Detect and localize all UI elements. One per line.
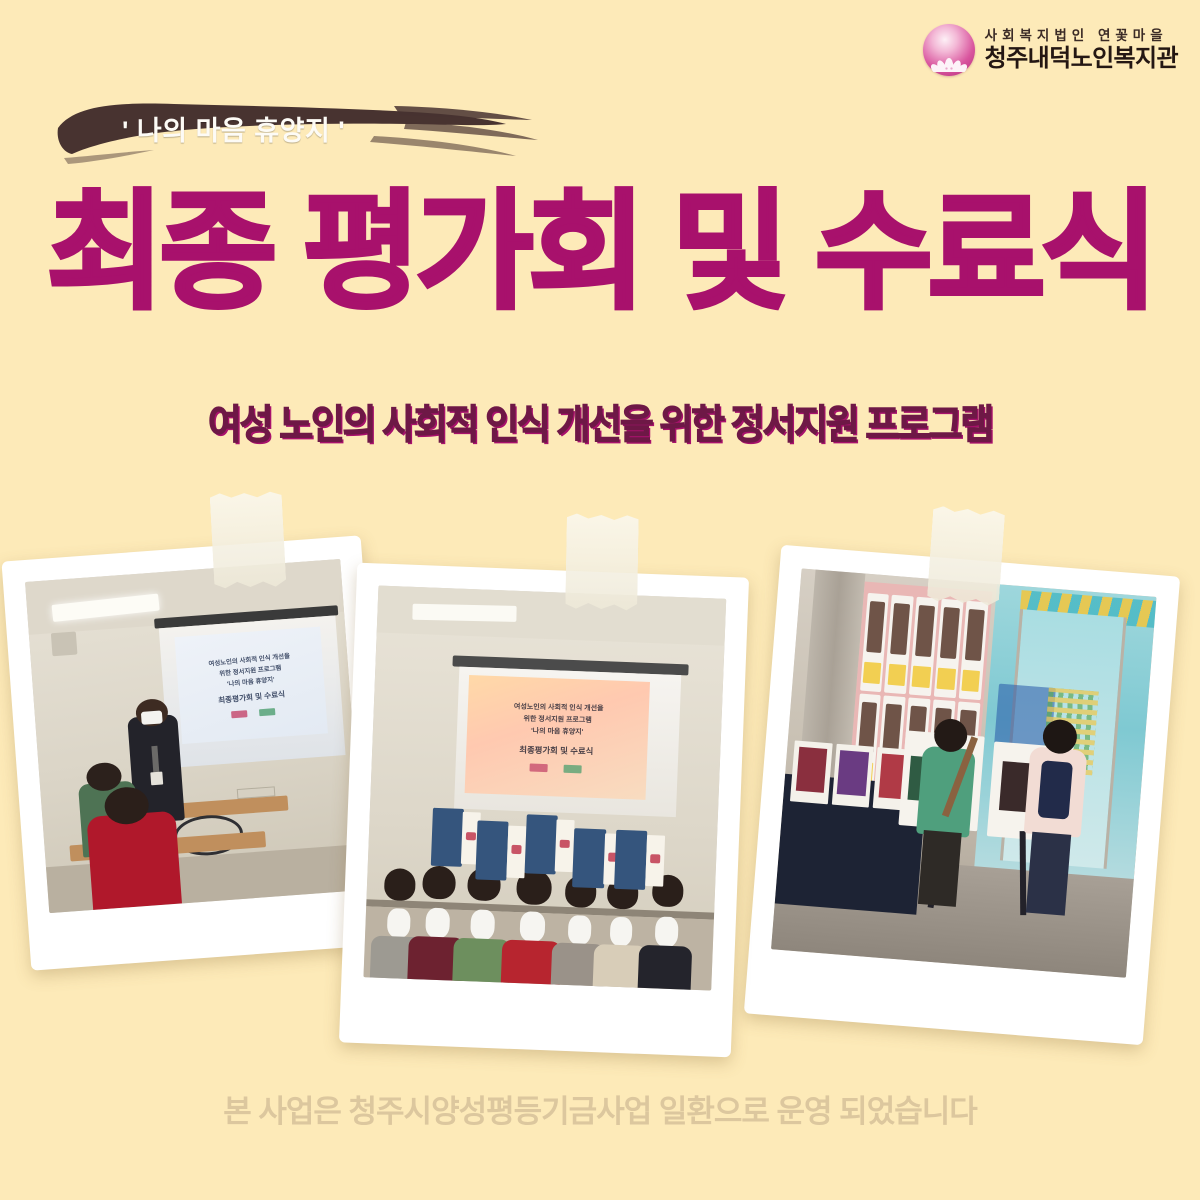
slide-line-4: 최종평가회 및 수료식 xyxy=(218,688,286,706)
certificate-folder xyxy=(524,815,558,875)
photo-3-image xyxy=(771,568,1156,977)
group-person xyxy=(514,869,552,960)
group-person xyxy=(650,875,685,966)
certificate-folder xyxy=(614,830,648,890)
photo-1-image: 여성노인의 사회적 인식 개선을 위한 정서지원 프로그램 '나의 마음 휴양지… xyxy=(25,559,364,913)
slide-line-4: 최종평가회 및 수료식 xyxy=(520,744,594,758)
certificate-folder xyxy=(572,828,606,888)
funding-note: 본 사업은 청주시양성평등기금사업 일환으로 운영 되었습니다 xyxy=(0,1086,1200,1131)
washi-tape-3 xyxy=(927,506,1006,607)
washi-tape-1 xyxy=(210,490,287,590)
washi-tape-2 xyxy=(565,513,639,610)
slide-sponsor-logos xyxy=(530,763,582,773)
group-person xyxy=(465,867,501,958)
slide-line-3: '나의 마음 휴양지' xyxy=(531,726,584,737)
certificate-folder xyxy=(475,821,509,881)
photo-group-certificates: 여성노인의 사회적 인식 개선을 위한 정서지원 프로그램 '나의 마음 휴양지… xyxy=(339,563,749,1058)
slide-line-1: 여성노인의 사회적 인식 개선을 xyxy=(513,702,603,714)
exhibit-frames xyxy=(790,740,916,811)
photo-collage: 여성노인의 사회적 인식 개선을 위한 정서지원 프로그램 '나의 마음 휴양지… xyxy=(0,0,1200,1200)
banner-label: ' 나의 마음 휴양지 ' xyxy=(122,109,345,148)
slide-line-2: 위한 정서지원 프로그램 xyxy=(524,714,592,725)
group-person xyxy=(420,866,456,957)
photo-classroom-presentation: 여성노인의 사회적 인식 개선을 위한 정서지원 프로그램 '나의 마음 휴양지… xyxy=(1,535,390,970)
photo-2-image: 여성노인의 사회적 인식 개선을 위한 정서지원 프로그램 '나의 마음 휴양지… xyxy=(363,585,726,990)
photo-lobby-exhibition xyxy=(744,545,1180,1046)
group-person xyxy=(604,877,639,964)
photo-2-slide: 여성노인의 사회적 인식 개선을 위한 정서지원 프로그램 '나의 마음 휴양지… xyxy=(465,675,650,799)
certificate-folder xyxy=(430,807,464,867)
slide-sponsor-logos xyxy=(231,708,275,718)
group-person xyxy=(563,875,598,962)
photo-1-slide: 여성노인의 사회적 인식 개선을 위한 정서지원 프로그램 '나의 마음 휴양지… xyxy=(175,627,328,744)
